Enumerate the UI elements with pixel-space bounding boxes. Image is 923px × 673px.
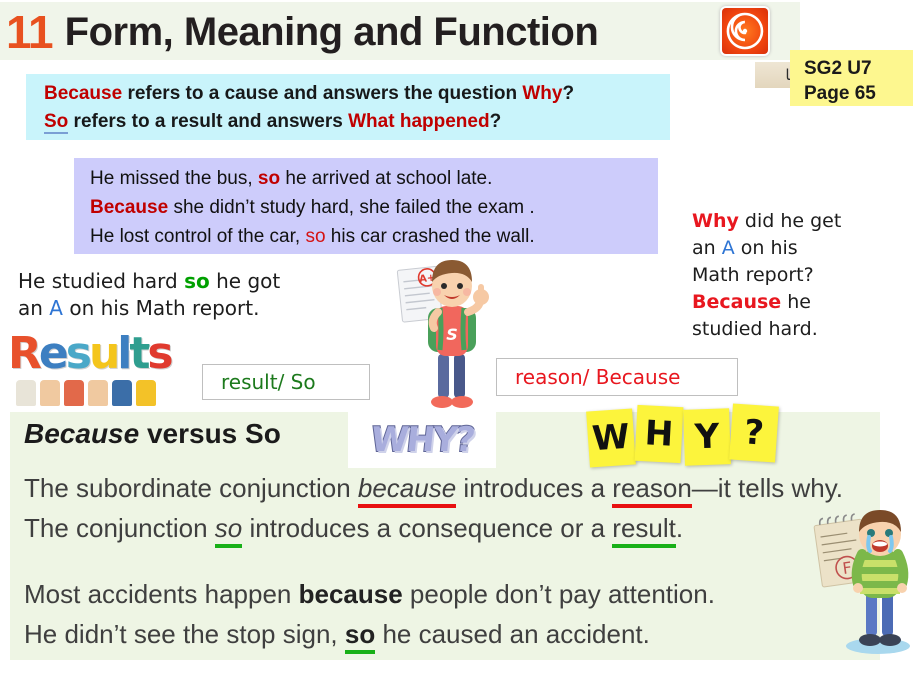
student-with-f-grade-illustration [812,508,920,656]
keyword-so: So [44,111,68,134]
examples-box: He missed the bus, so he arrived at scho… [74,158,658,254]
right-note-line2-a: an [692,237,722,259]
sticky-letter: W [586,408,636,467]
right-note-line2-b: on his [735,237,798,259]
left-note-line-2: an A on his Math report. [18,295,378,322]
p2-a: The conjunction [24,513,215,543]
spiral-icon [722,8,768,54]
p4-keyword-so: so [345,619,375,654]
definition-line-1-mid: refers to a cause and answers the questi… [122,83,522,104]
p3-keyword-because: because [299,579,403,609]
p1-a: The subordinate conjunction [24,473,358,503]
lesson-paragraph-2: The conjunction so introduces a conseque… [24,508,884,548]
p1-b: introduces a [456,473,612,503]
definition-box: Because refers to a cause and answers th… [26,74,670,140]
badge-line-2: Page 65 [804,81,913,106]
results-letters: Results [8,328,208,378]
example-line-3: He lost control of the car, so his car c… [90,222,658,251]
example-3-keyword: so [305,226,325,247]
student-with-a-grade-illustration: A+ S [392,252,508,414]
left-handwritten-note: He studied hard so he got an A on his Ma… [18,268,378,322]
right-note-keyword-why: Why [692,210,739,232]
p2-c: . [676,513,683,543]
sticky-note-why: W H Y ? [588,404,778,468]
results-letter: s [66,328,89,379]
sg-page-badge: SG2 U7 Page 65 [790,50,913,106]
results-letter: R [8,328,39,379]
slide-title-row: 11 Form, Meaning and Function [6,6,598,58]
right-note-line-2: an A on his [692,235,922,262]
definition-line-2: So refers to a result and answers What h… [44,108,670,136]
definition-line-1: Because refers to a cause and answers th… [44,80,670,108]
keyword-why: Why [522,83,562,104]
slide-root: 11 Form, Meaning and Function العا هيها … [0,0,923,673]
example-3-b: his car crashed the wall. [326,226,535,247]
right-note-line-1-text: did he get [739,210,841,232]
lesson-paragraph-3: Most accidents happen because people don… [24,574,884,614]
badge-line-1: SG2 U7 [804,56,913,81]
right-handwritten-note: Why did he get an A on his Math report? … [692,208,922,343]
example-1-b: he arrived at school late. [280,168,492,189]
svg-text:S: S [446,325,458,344]
left-note-keyword-so: so [184,269,210,293]
example-1-a: He missed the bus, [90,168,258,189]
example-2-b: she didn’t study hard, she failed the ex… [168,197,535,218]
p2-b: introduces a consequence or a [242,513,612,543]
definition-line-2-mid: refers to a result and answers [68,111,348,132]
keyword-because: Because [44,83,122,104]
unit-number: 11 [6,9,53,55]
key-box-reason: reason/ Because [496,358,738,396]
why-wordart-text: WHY? [369,420,476,460]
p4-a: He didn’t see the stop sign, [24,619,345,649]
example-3-a: He lost control of the car, [90,226,305,247]
definition-line-2-end: ? [490,111,502,132]
definition-line-1-end: ? [562,83,574,104]
left-note-line2-b: on his Math report. [63,296,259,320]
example-line-1: He missed the bus, so he arrived at scho… [90,164,658,193]
right-note-line-1: Why did he get [692,208,922,235]
p2-keyword-so: so [215,513,242,548]
key-box-reason-label: reason/ Because [515,365,680,389]
left-note-grade-a: A [49,296,63,320]
results-letter: l [117,328,129,379]
p3-a: Most accidents happen [24,579,299,609]
p1-keyword-reason: reason [612,473,692,508]
lesson-paragraph-1: The subordinate conjunction because intr… [24,468,884,508]
lesson-heading-rest: versus So [139,418,281,449]
right-note-line-4: Because he [692,289,922,316]
lesson-heading-emphasis: Because [24,418,139,449]
lesson-paragraph-4: He didn’t see the stop sign, so he cause… [24,614,884,654]
sticky-letter: ? [729,403,779,462]
page-title: Form, Meaning and Function [65,12,599,52]
example-1-keyword: so [258,168,280,189]
results-letter: t [129,328,147,379]
right-note-keyword-because: Because [692,291,781,313]
results-letter: e [39,328,66,379]
right-note-line-5: studied hard. [692,316,922,343]
left-note-line2-a: an [18,296,49,320]
results-letter: s [147,328,170,379]
p1-keyword-because: because [358,473,456,508]
keyword-what-happened: What happened [348,111,489,132]
key-box-result-label: result/ So [221,370,316,394]
lesson-heading: Because versus So [24,418,281,450]
p1-c: —it tells why. [692,473,843,503]
left-note-part-2: he got [210,269,280,293]
lesson-body: The subordinate conjunction because intr… [24,468,884,654]
left-note-part-1: He studied hard [18,269,184,293]
sticky-letter: H [635,405,684,463]
p3-b: people don’t pay attention. [403,579,715,609]
results-word-art: Results [8,328,208,404]
p2-keyword-result: result [612,513,676,548]
raised-hands-icon [16,380,206,406]
example-2-keyword: Because [90,197,168,218]
example-line-2: Because she didn’t study hard, she faile… [90,193,658,222]
why-wordart-graphic: WHY? [348,412,496,468]
key-box-result: result/ So [202,364,370,400]
right-note-grade-a: A [722,237,735,259]
left-note-line-1: He studied hard so he got [18,268,378,295]
p4-b: he caused an accident. [375,619,650,649]
right-note-line-3: Math report? [692,262,922,289]
sticky-letter: Y [683,408,731,466]
right-note-line-4-text: he [781,291,811,313]
results-letter: u [89,328,117,379]
